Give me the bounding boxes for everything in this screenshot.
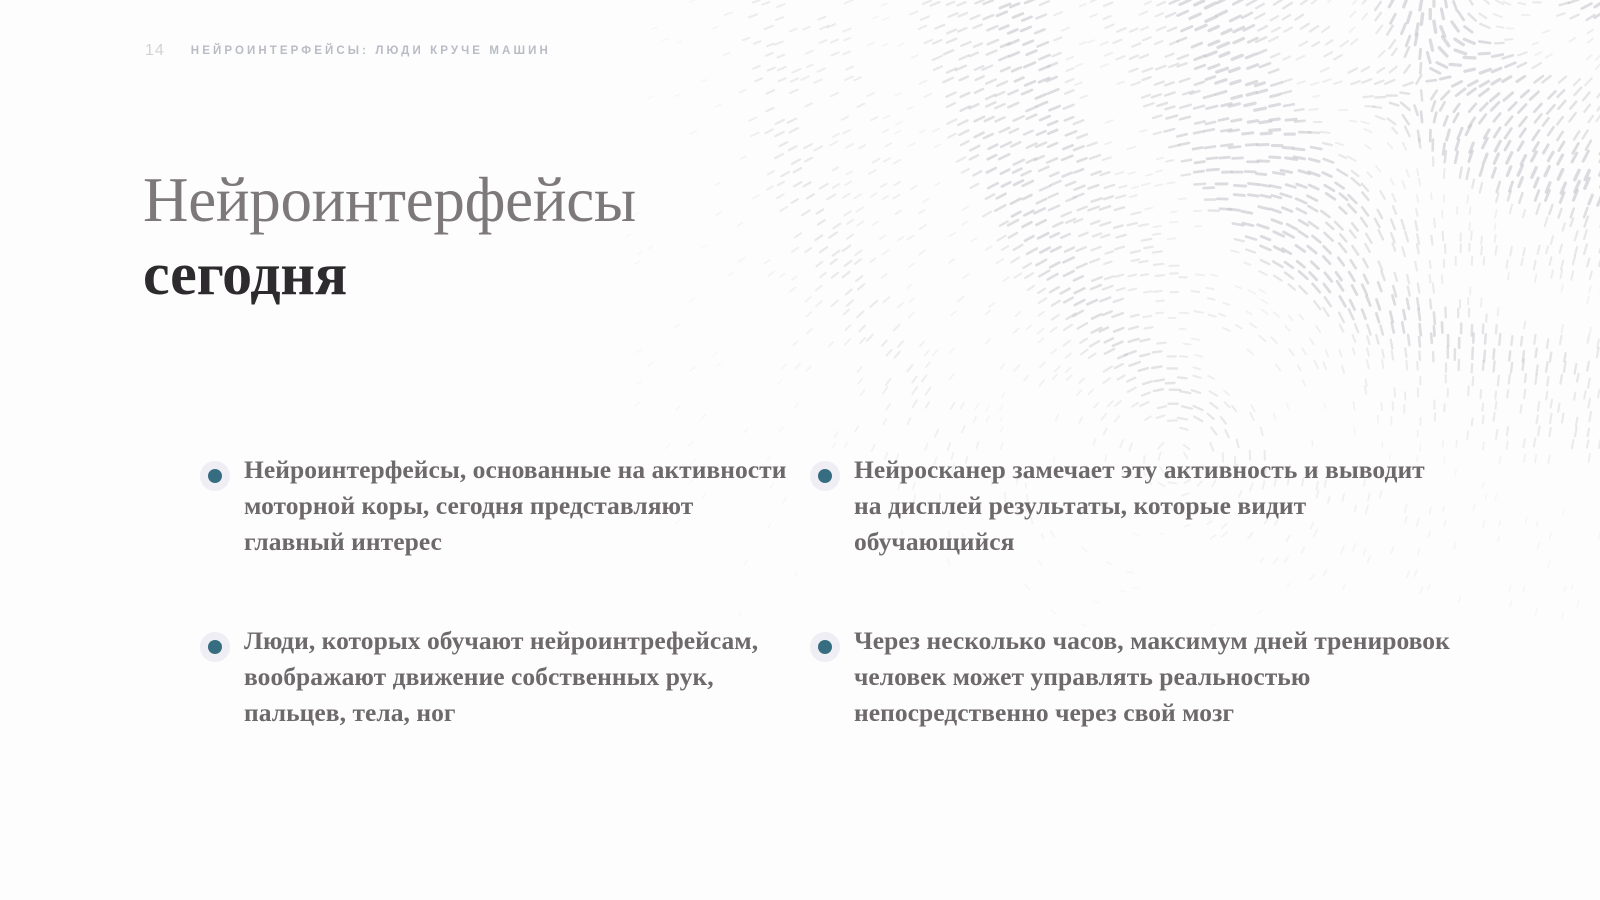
- bullet-dot-inner: [818, 469, 832, 483]
- bullet-dot-inner: [208, 469, 222, 483]
- page-number: 14: [145, 42, 165, 60]
- bullet-dot-icon: [200, 632, 230, 662]
- list-item-label: Нейроинтерфейсы, основанные на активност…: [244, 452, 790, 561]
- list-item-label: Люди, которых обучают нейроинтрефейсам, …: [244, 623, 790, 732]
- slide-root: 14 НЕЙРОИНТЕРФЕЙСЫ: ЛЮДИ КРУЧЕ МАШИН Ней…: [0, 0, 1600, 900]
- list-item-label: Через несколько часов, максимум дней тре…: [854, 623, 1450, 732]
- bullet-list: Нейроинтерфейсы, основанные на активност…: [200, 452, 1490, 731]
- deck-title: НЕЙРОИНТЕРФЕЙСЫ: ЛЮДИ КРУЧЕ МАШИН: [191, 45, 551, 57]
- slide-header: 14 НЕЙРОИНТЕРФЕЙСЫ: ЛЮДИ КРУЧЕ МАШИН: [145, 42, 551, 60]
- bullet-dot-icon: [200, 461, 230, 491]
- list-item: Люди, которых обучают нейроинтрефейсам, …: [200, 623, 790, 732]
- list-item: Нейроинтерфейсы, основанные на активност…: [200, 452, 790, 561]
- page-title: Нейроинтерфейсы сегодня: [143, 169, 636, 304]
- dotted-flow-field-decoration: [0, 0, 1600, 900]
- bullet-dot-icon: [810, 461, 840, 491]
- bullet-dot-inner: [208, 640, 222, 654]
- list-item: Через несколько часов, максимум дней тре…: [810, 623, 1450, 732]
- bullet-dot-icon: [810, 632, 840, 662]
- page-title-line-two: сегодня: [143, 244, 636, 304]
- page-title-line-one: Нейроинтерфейсы: [143, 169, 636, 232]
- bullet-dot-inner: [818, 640, 832, 654]
- list-item-label: Нейросканер замечает эту активность и вы…: [854, 452, 1450, 561]
- list-item: Нейросканер замечает эту активность и вы…: [810, 452, 1450, 561]
